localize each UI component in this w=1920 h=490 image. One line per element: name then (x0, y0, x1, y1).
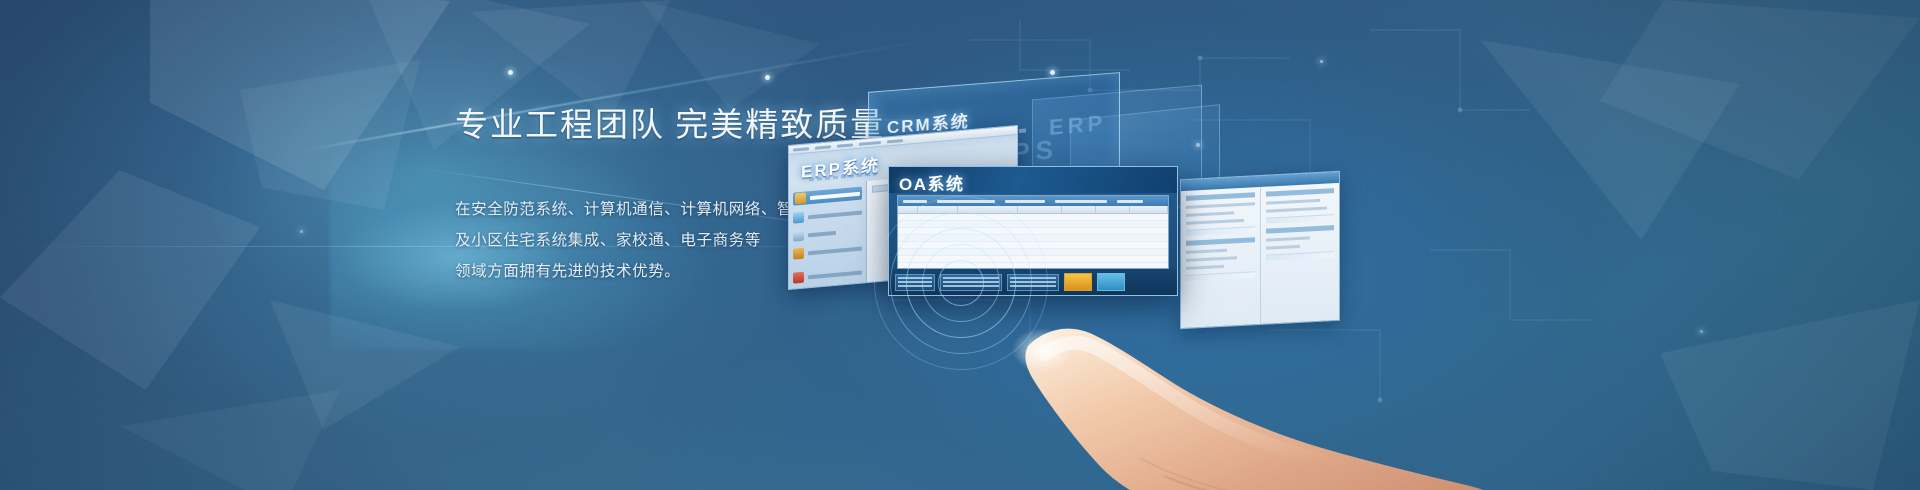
oa-column-header (1096, 206, 1130, 213)
panel-row (1266, 199, 1321, 205)
erp-nav-label (808, 270, 862, 279)
software-screens-montage: ERP CRM系统 EPS ERP系统 (770, 0, 1920, 490)
sparkle-dot (508, 70, 513, 75)
exit-icon (793, 272, 804, 284)
panel-row (1186, 211, 1234, 217)
erp-nav-item (793, 267, 862, 284)
erp-menu-item (815, 145, 831, 149)
hero-banner: 专业工程团队 完美精致质量 在安全防范系统、计算机通信、计算机网络、智能大厦 及… (0, 0, 1920, 490)
panel-row (1186, 202, 1255, 209)
oa-column-header (1018, 206, 1062, 213)
erp-nav-label (808, 246, 862, 255)
oa-column-header (1062, 206, 1096, 213)
panel-row (1266, 236, 1311, 241)
erp-nav-label (808, 210, 862, 219)
polygon-shard (120, 390, 340, 490)
erp-sidebar (789, 181, 867, 289)
erp-nav-item (793, 187, 862, 206)
oa-toolbar-item (1117, 200, 1143, 203)
chart-icon (793, 248, 804, 260)
erp-menu-item (859, 140, 881, 145)
panel-row (1266, 206, 1328, 212)
oa-toolbar-item (903, 200, 927, 203)
gear-icon (793, 212, 804, 224)
oa-toolbar-item (1005, 200, 1045, 203)
oa-toolbar-item (1055, 200, 1107, 203)
panel-divider (1266, 214, 1335, 224)
folder-icon (795, 192, 806, 204)
sparkle-dot (300, 230, 303, 233)
erp-menu-item (837, 143, 853, 147)
panel-column-header (1266, 188, 1335, 197)
panel-column-header (1186, 192, 1255, 201)
panel-column-header (1266, 225, 1335, 234)
erp-nav-item (793, 225, 862, 242)
hand-pointing-illustration (950, 250, 1510, 490)
erp-menu-item (887, 139, 903, 143)
erp-nav-item (793, 207, 862, 224)
panel-column-header (1186, 237, 1255, 246)
panel-divider (1186, 226, 1255, 236)
screen-oa-label: OA系统 (899, 170, 965, 195)
document-icon (793, 230, 804, 242)
panel-row (1186, 219, 1244, 225)
erp-nav-item (793, 243, 862, 260)
panel-row (1266, 245, 1300, 250)
erp-menu-item (793, 147, 809, 151)
erp-nav-label (808, 230, 836, 236)
polygon-shard (0, 170, 260, 390)
oa-column-header (1130, 206, 1168, 213)
erp-nav-label (810, 191, 860, 199)
